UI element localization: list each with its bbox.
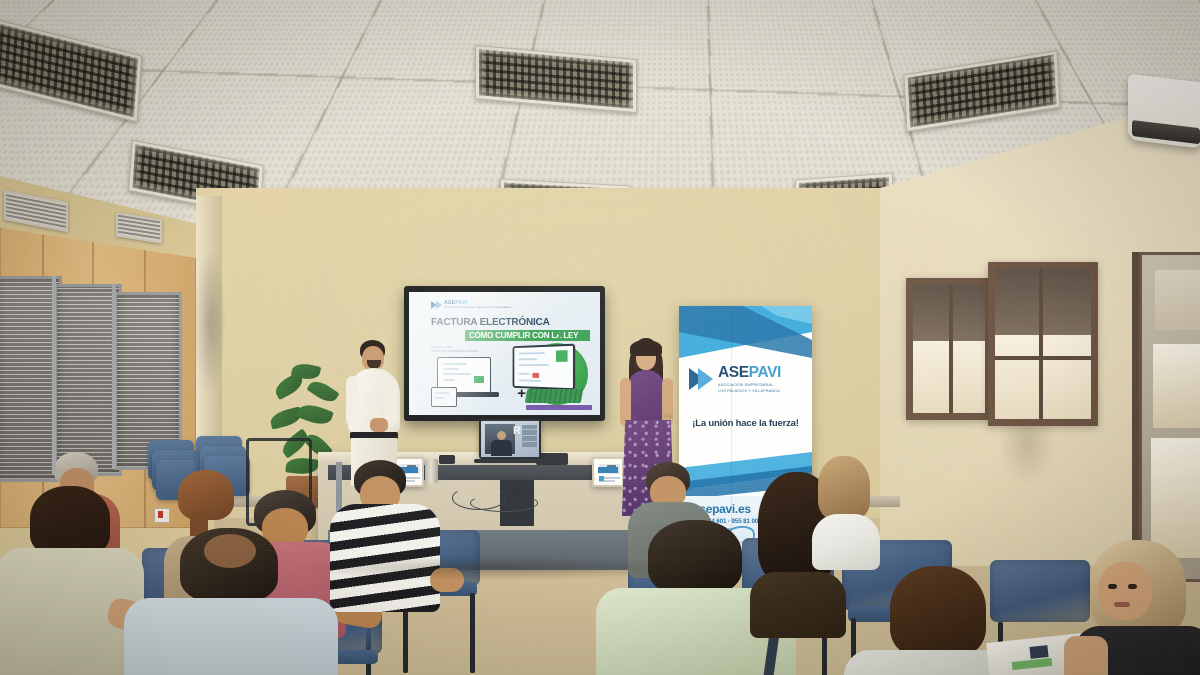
presenter-arm [620,378,631,426]
laptop-screen: R [481,421,539,457]
hair [30,486,110,556]
tabletop-sign-right [592,457,624,487]
hair [648,520,742,594]
bald-patch [204,534,256,568]
banner-logo: ASEPAVI ASOCIACIÓN EMPRESARIAL LOS PALAC… [689,364,781,394]
mouth [1114,602,1130,607]
arm [1064,636,1108,675]
right-glass-door [1132,252,1200,582]
laptop-brand-glyph: R [513,426,521,437]
screen-glare [409,292,600,415]
air-conditioner-unit [1128,73,1200,148]
hair [818,456,870,520]
banner-logo-subtitle2: LOS PALACIOS Y VILLAFRANCA [718,389,781,394]
switch-indicator [158,511,163,518]
remote-speaker-body [491,440,512,456]
video-call-feed [485,424,515,454]
presenter-hands [370,418,388,432]
hair [890,566,986,658]
drink-can [425,459,438,483]
banner-slogan: ¡La unión hace la fuerza! [679,418,812,429]
floor-shadow [300,556,680,580]
head [1098,562,1152,620]
torso [124,598,338,675]
presentation-slide: ASEPAVI ASOCIACION EMPRESARIAL LOS PALAC… [409,292,600,415]
eye [1108,584,1117,589]
torso [750,572,846,638]
eye [1128,584,1137,589]
presenter-arm [662,378,673,426]
torso [812,514,880,570]
cable [470,494,538,512]
presentation-tv: ASEPAVI ASOCIACION EMPRESARIAL LOS PALAC… [404,286,605,421]
video-call-tiles [522,425,537,447]
hair [178,470,234,520]
conference-room-photo: ASEPAVI ASOCIACION EMPRESARIAL LOS PALAC… [0,0,1200,675]
presenter-dress-top [626,370,666,422]
remote-speaker-head [497,431,506,440]
handout-mark [1029,645,1048,659]
chevron-right-icon [698,368,713,390]
presenter-arm [346,376,359,426]
window-mullion [112,284,116,468]
banner-seam [731,306,732,556]
av-device [439,455,455,464]
presenter-hair-front [630,340,662,356]
presenter-laptop[interactable]: R [479,419,541,459]
banner-logo-name: ASEPAVI [718,364,781,381]
right-window [906,278,992,420]
banner-top-graphic [679,306,812,358]
presenter-bracelet [663,414,673,418]
right-window [988,262,1098,426]
window-mullion [52,276,56,474]
